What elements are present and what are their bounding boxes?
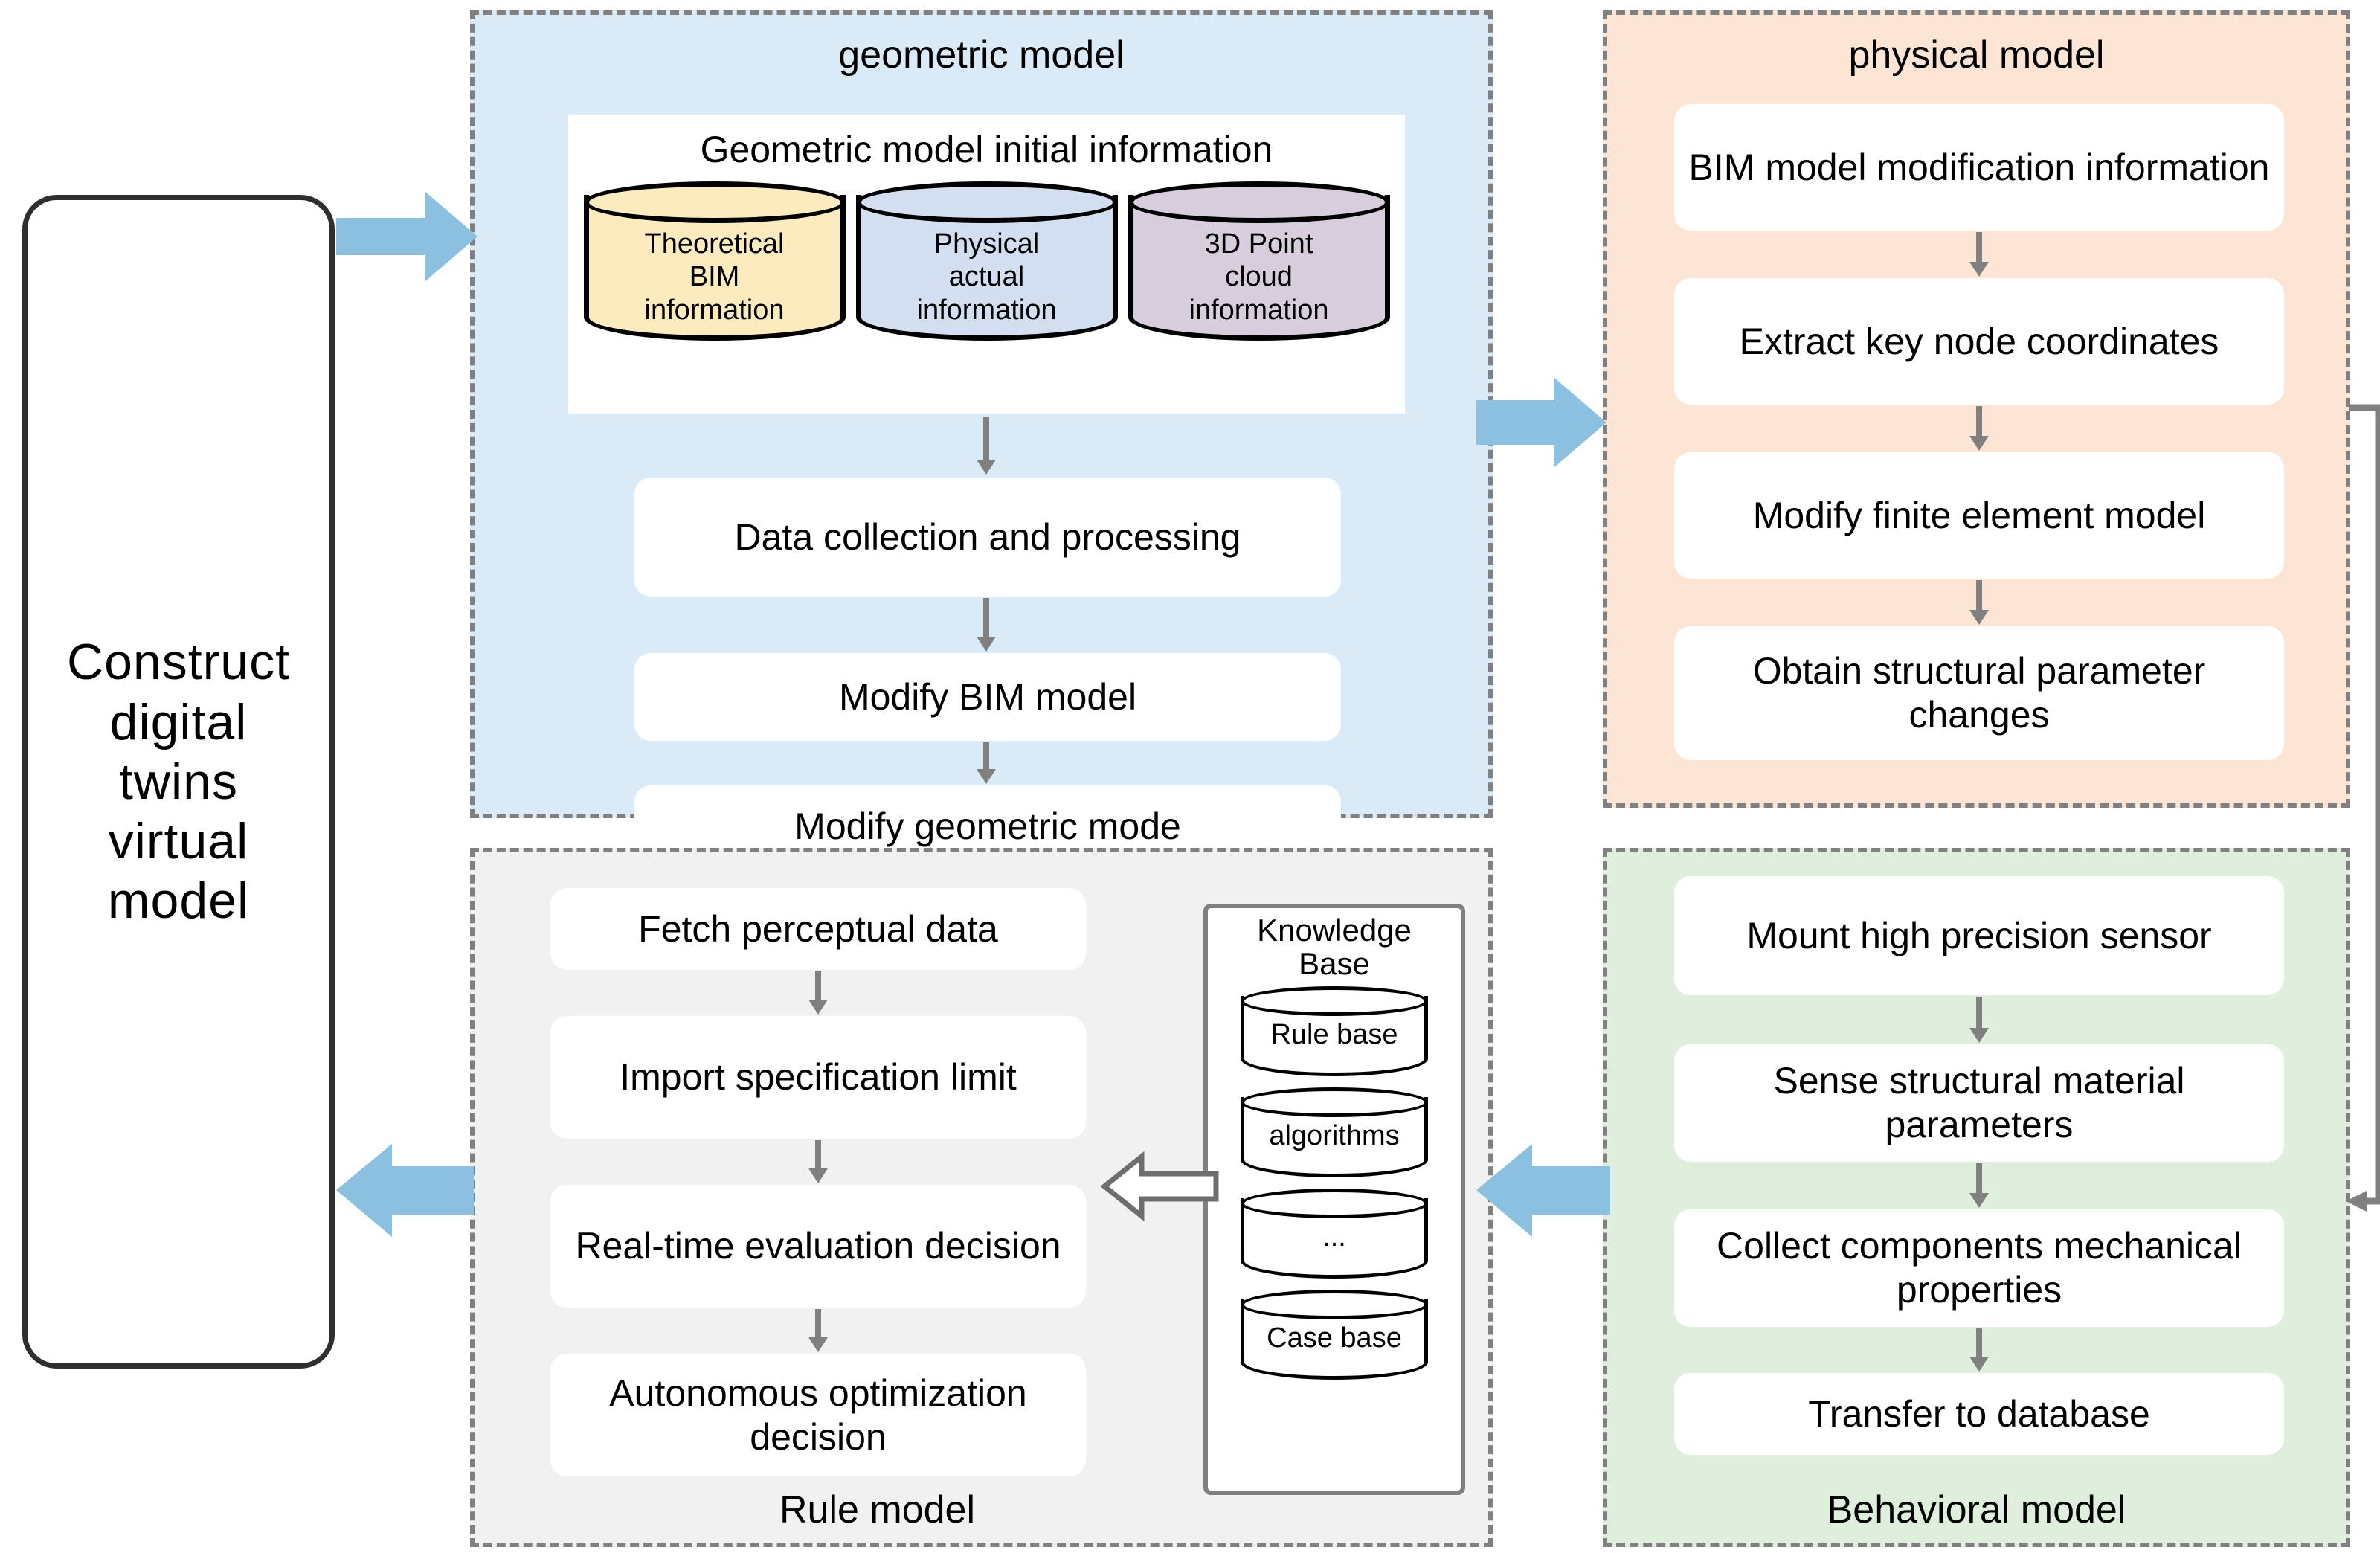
cylinder-label: TheoreticalBIMinformation <box>584 228 846 327</box>
kb-cylinder-ellipsis: ... <box>1241 1189 1428 1284</box>
arrow-down-icon <box>808 971 828 1015</box>
step-modify-finite-element-model: Modify finite element model <box>1674 452 2284 579</box>
kb-cylinder-case-base: Case base <box>1241 1290 1428 1385</box>
knowledge-base-card: KnowledgeBase Rule base algorithms ... C… <box>1203 904 1465 1495</box>
kb-item-label: Rule base <box>1241 1019 1428 1051</box>
arrow-down-icon <box>1969 997 1989 1043</box>
step-autonomous-optimization-decision: Autonomous optimization decision <box>550 1354 1086 1476</box>
blue-arrow-right-icon <box>336 192 477 281</box>
arrow-down-icon <box>1969 580 1989 625</box>
arrow-down-icon <box>1969 1328 1989 1372</box>
arrow-down-icon <box>1969 232 1989 277</box>
step-modify-bim-model: Modify BIM model <box>634 653 1341 741</box>
panel-physical-title: physical model <box>1607 33 2346 77</box>
blue-arrow-left-icon <box>1476 1144 1610 1237</box>
cylinder-3d-point-cloud-information: 3D Pointcloudinformation <box>1128 181 1390 353</box>
step-collect-components-mechanical-properties: Collect components mechanical properties <box>1674 1209 2284 1327</box>
kb-item-label: algorithms <box>1241 1120 1428 1152</box>
step-obtain-structural-parameter-changes: Obtain structural parameter changes <box>1674 626 2284 760</box>
hollow-arrow-left-icon <box>1101 1145 1220 1231</box>
panel-geometric-title: geometric model <box>475 33 1488 77</box>
main-box-label: Constructdigitaltwinsvirtualmodel <box>67 632 290 930</box>
arrow-down-icon <box>808 1309 828 1352</box>
step-import-specification-limit: Import specification limit <box>550 1016 1086 1139</box>
arrow-down-icon <box>808 1140 828 1183</box>
kb-cylinder-rule-base: Rule base <box>1241 986 1428 1081</box>
step-real-time-evaluation-decision: Real-time evaluation decision <box>550 1185 1086 1308</box>
panel-geometric-model: geometric model Geometric model initial … <box>470 10 1493 818</box>
arrow-down-icon <box>1969 406 1989 451</box>
step-sense-structural-material-parameters: Sense structural material parameters <box>1674 1044 2284 1162</box>
panel-behavioral-model: Behavioral model Mount high precision se… <box>1603 848 2350 1547</box>
cylinder-label: Physicalactualinformation <box>856 228 1118 327</box>
arrow-down-icon <box>1969 1163 1989 1208</box>
arrow-down-icon <box>977 417 996 475</box>
arrow-down-icon <box>977 598 996 652</box>
kb-item-label: Case base <box>1241 1322 1428 1354</box>
feedback-loop-connector <box>2343 402 2380 1231</box>
step-bim-model-modification-information: BIM model modification information <box>1674 104 2284 231</box>
step-mount-high-precision-sensor: Mount high precision sensor <box>1674 876 2284 995</box>
panel-physical-model: physical model BIM model modification in… <box>1603 10 2350 808</box>
cylinder-label: 3D Pointcloudinformation <box>1128 228 1390 327</box>
panel-behavioral-title: Behavioral model <box>1607 1488 2346 1532</box>
construct-digital-twins-box: Constructdigitaltwinsvirtualmodel <box>22 195 335 1369</box>
geometric-initial-information-header: Geometric model initial information <box>568 115 1405 171</box>
geometric-cylinder-row: TheoreticalBIMinformation Physicalactual… <box>568 181 1405 353</box>
kb-cylinder-algorithms: algorithms <box>1241 1087 1428 1183</box>
step-data-collection-and-processing: Data collection and processing <box>634 478 1341 597</box>
blue-arrow-left-icon <box>336 1144 474 1237</box>
cylinder-physical-actual-information: Physicalactualinformation <box>856 181 1118 353</box>
cylinder-theoretical-bim-information: TheoreticalBIMinformation <box>584 181 846 353</box>
kb-item-label: ... <box>1241 1221 1428 1253</box>
step-extract-key-node-coordinates: Extract key node coordinates <box>1674 278 2284 405</box>
step-fetch-perceptual-data: Fetch perceptual data <box>550 888 1086 970</box>
blue-arrow-right-icon <box>1476 378 1606 467</box>
step-transfer-to-database: Transfer to database <box>1674 1373 2284 1455</box>
knowledge-base-title: KnowledgeBase <box>1208 908 1461 980</box>
arrow-down-icon <box>977 742 996 784</box>
geometric-initial-information-card: Geometric model initial information Theo… <box>568 115 1405 414</box>
